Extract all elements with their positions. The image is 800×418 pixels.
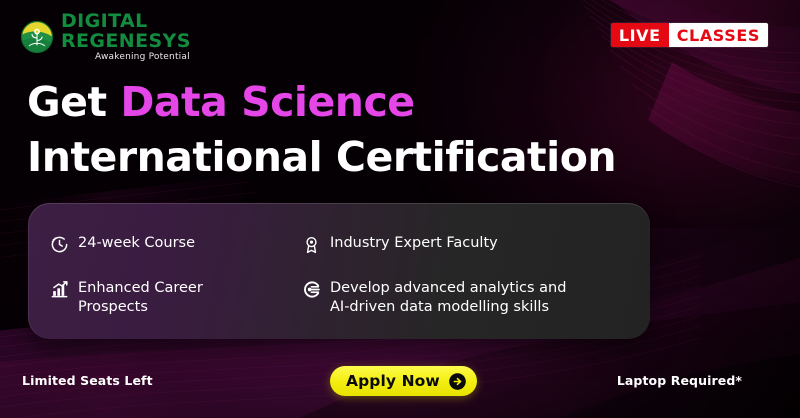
arrow-right-circle-icon (448, 372, 467, 391)
logo-tagline: Awakening Potential (95, 53, 191, 62)
logo-line-2: REGENESYS (61, 32, 191, 51)
feature-item-faculty: Industry Expert Faculty (302, 234, 632, 254)
headline-accent-text: Data Science (120, 78, 414, 126)
feature-label: Enhanced Career Prospects (78, 279, 203, 317)
clock-icon (50, 235, 69, 254)
feature-highlights-card: 24-week Course Industry Expert Faculty (28, 203, 650, 339)
headline-block: Get Data Science International Certifica… (27, 82, 616, 178)
feature-item-course-duration: 24-week Course (50, 234, 302, 254)
tree-circle-logo-icon (20, 20, 54, 54)
badge-classes-label: CLASSES (669, 23, 768, 47)
laptop-required-note: Laptop Required* (617, 373, 742, 388)
award-badge-icon (302, 235, 321, 254)
promo-banner: DIGITAL REGENESYS Awakening Potential LI… (0, 0, 800, 418)
bar-chart-growth-icon (50, 280, 69, 299)
feature-label: Develop advanced analytics and AI-driven… (330, 279, 566, 317)
gear-cog-icon (302, 280, 321, 299)
logo-line-1: DIGITAL (61, 12, 191, 31)
feature-item-career: Enhanced Career Prospects (50, 279, 302, 317)
headline-line-1: Get Data Science (27, 82, 616, 123)
live-classes-badge: LIVE CLASSES (611, 23, 768, 47)
headline-line-2: International Certification (27, 137, 616, 178)
feature-label: Industry Expert Faculty (330, 234, 498, 253)
badge-live-label: LIVE (611, 23, 669, 47)
logo-wordmark: DIGITAL REGENESYS Awakening Potential (61, 12, 191, 62)
limited-seats-note: Limited Seats Left (22, 373, 153, 388)
feature-item-skills: Develop advanced analytics and AI-driven… (302, 279, 632, 317)
headline-plain-text: Get (27, 78, 120, 126)
apply-now-label: Apply Now (346, 372, 440, 390)
apply-now-button[interactable]: Apply Now (330, 366, 477, 396)
brand-logo[interactable]: DIGITAL REGENESYS Awakening Potential (20, 12, 191, 62)
feature-label: 24-week Course (78, 234, 195, 253)
